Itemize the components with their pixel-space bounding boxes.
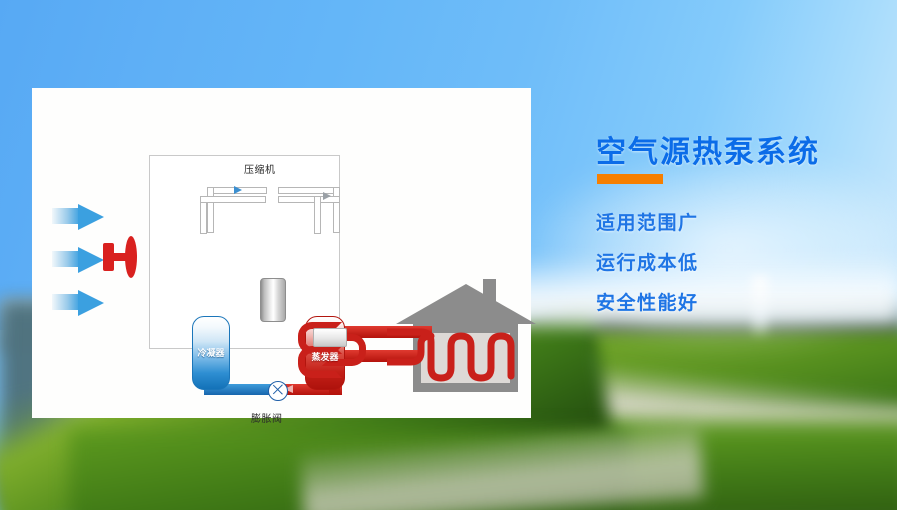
expansion-valve-label: 膨胀阀 [251,410,283,425]
discharge-line-top-left [200,196,266,203]
compressor-icon [260,278,286,322]
flow-arrow-compressor-in [234,186,242,194]
air-arrow-tail-1 [52,208,80,224]
compressor-label: 压缩机 [244,161,276,176]
air-arrow-2 [78,247,104,273]
flow-arrow-compressor-out [323,192,331,200]
feature-bullet-3: 安全性能好 [596,288,699,315]
expansion-valve-icon [268,381,288,401]
suction-line-down-right [314,196,321,234]
evaporator-label: 蒸发器 [304,350,346,363]
evaporator-core-block [313,328,347,347]
fan-blade-icon [125,236,137,278]
page-title: 空气源热泵系统 [596,127,820,171]
air-arrow-1 [78,204,104,230]
discharge-line-down-right [333,187,340,233]
air-arrow-tail-3 [52,294,80,310]
feature-bullet-2: 运行成本低 [596,248,699,275]
air-arrow-tail-2 [52,251,80,267]
condenser-label: 冷凝器 [192,346,230,359]
air-arrow-3 [78,290,104,316]
diagram-card: 压缩机 冷凝器 蒸发器 膨胀阀 [32,88,531,418]
slide-canvas: 压缩机 冷凝器 蒸发器 膨胀阀 [0,0,897,510]
radiant-floor-coil-icon [387,318,517,394]
suction-line-down-left [207,187,214,233]
feature-bullet-1: 适用范围广 [596,208,699,235]
accent-underline-bar [597,174,663,184]
